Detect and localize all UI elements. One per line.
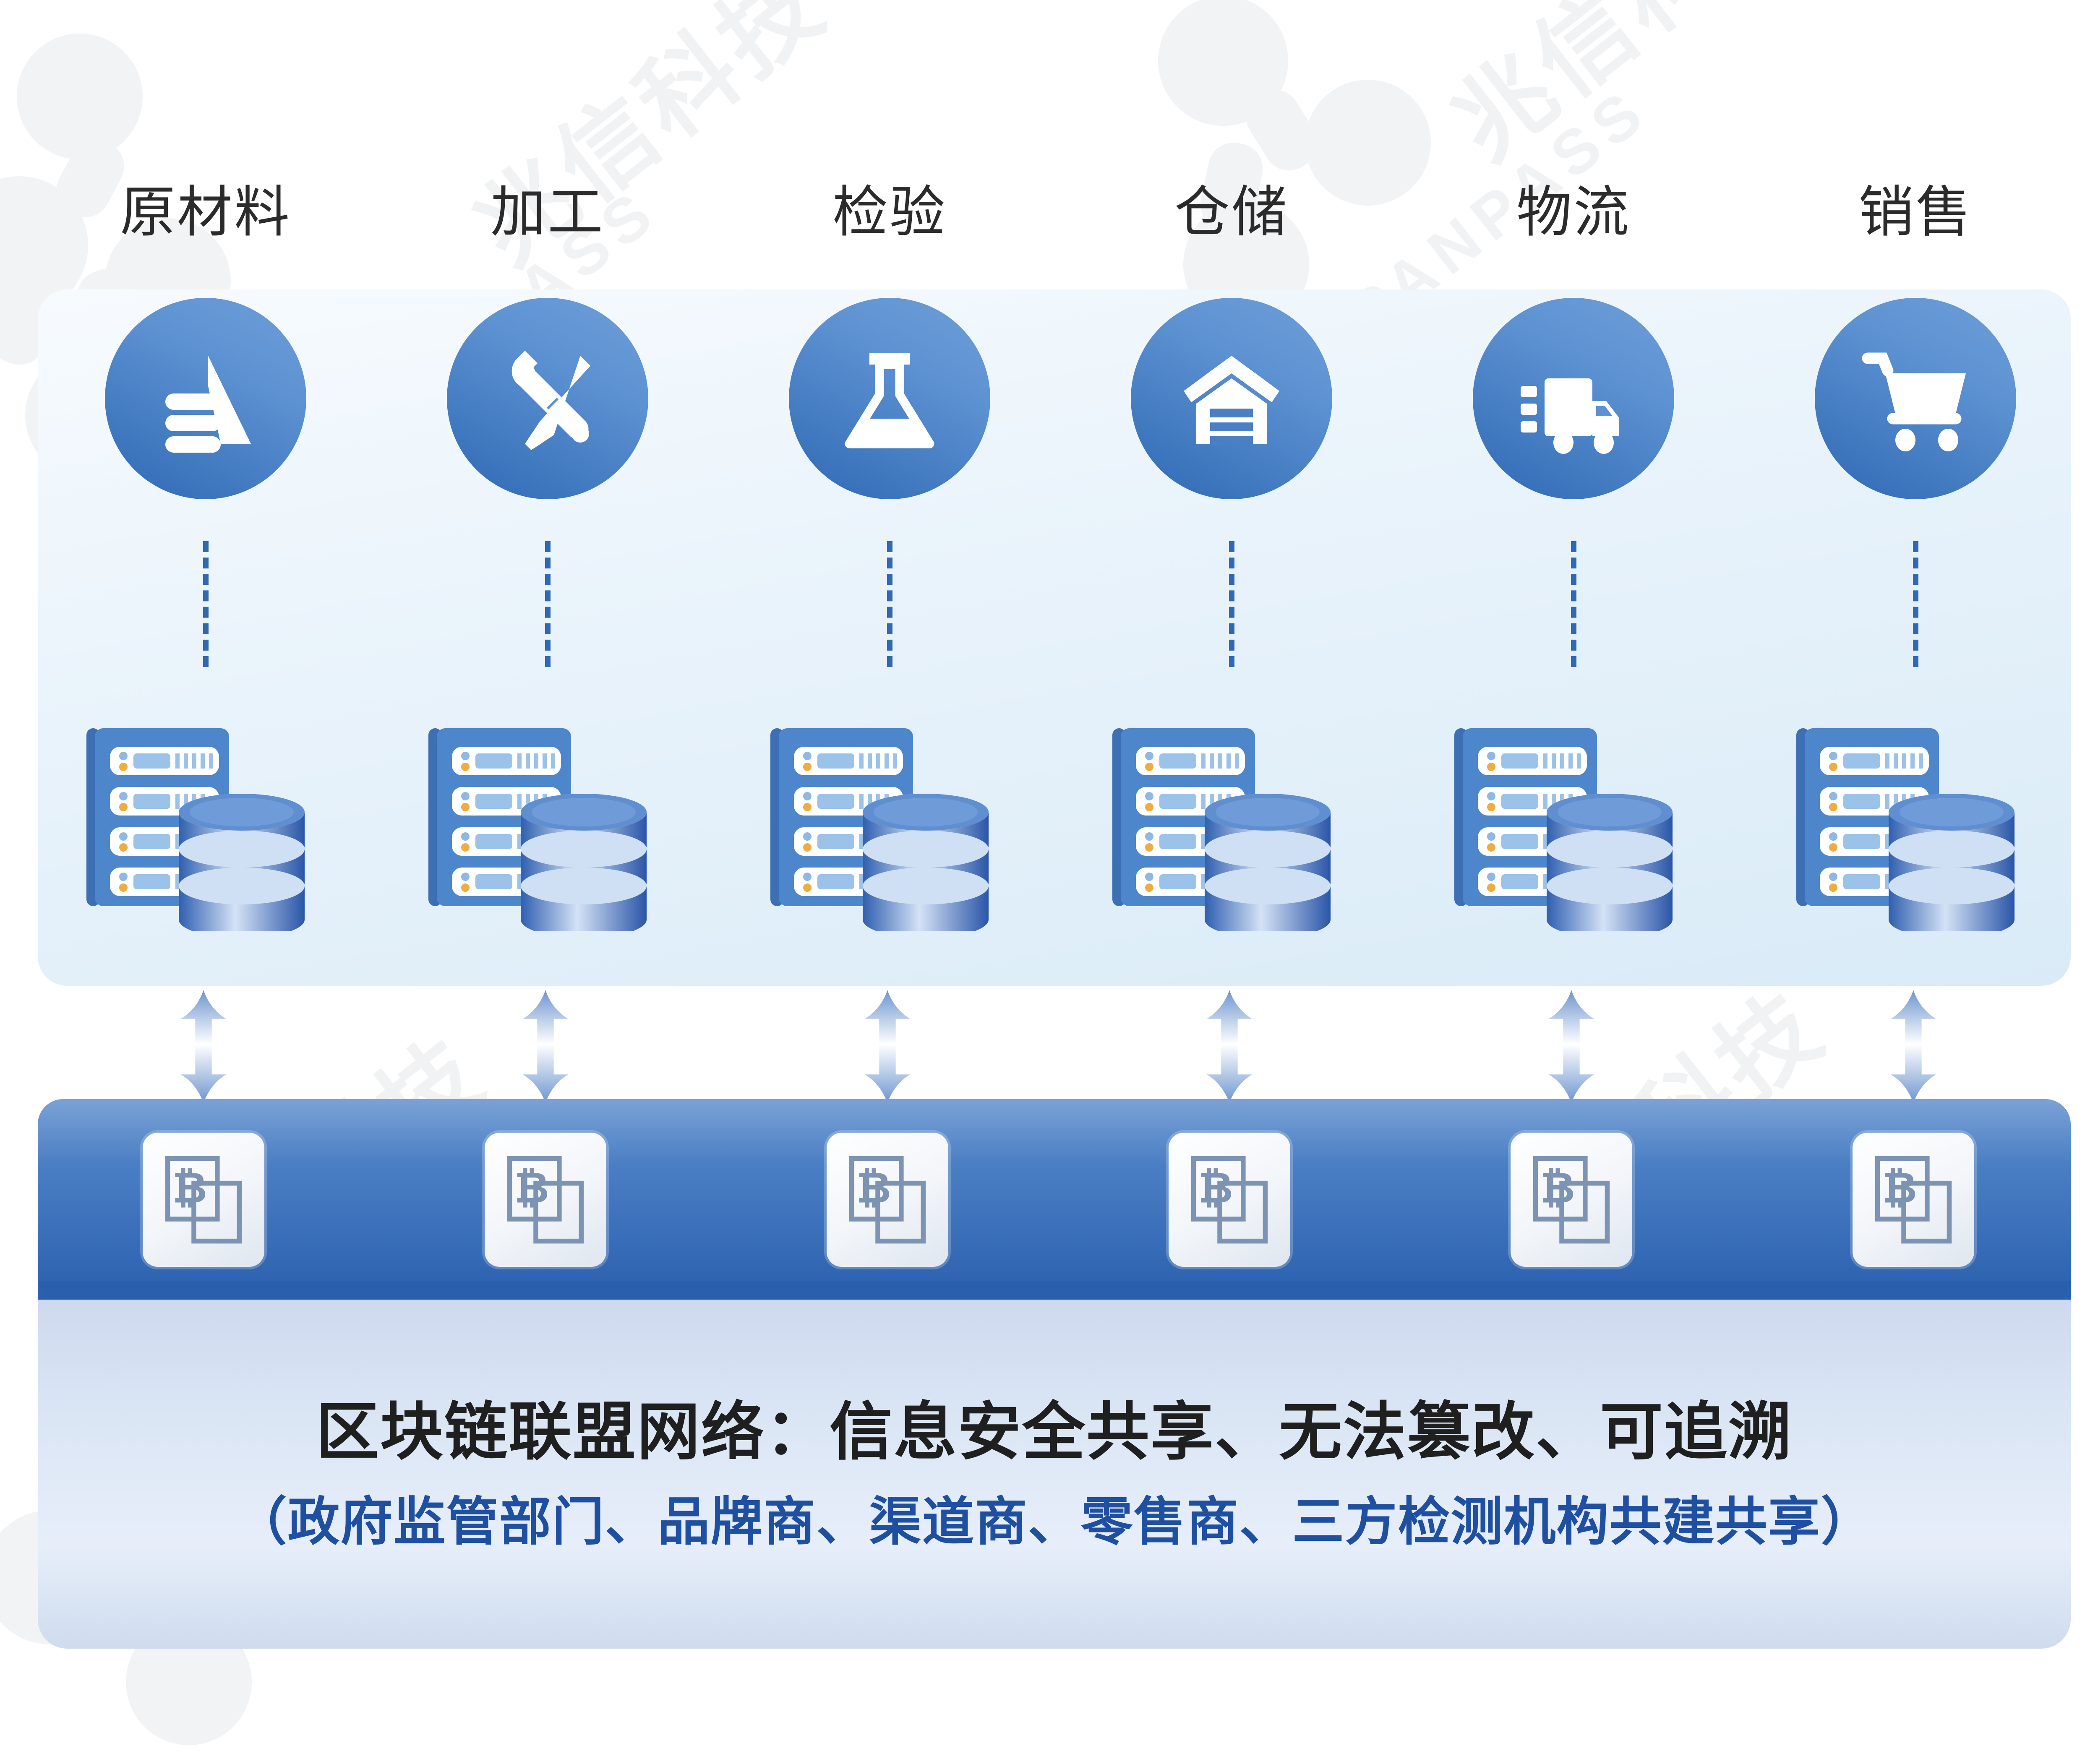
caption-panel: 区块链联盟网络：信息安全共享、无法篡改、可追溯 （政府监管部门、品牌商、渠道商、… (38, 1300, 2071, 1649)
sales-cart-icon (1853, 336, 1978, 461)
sync-arrow-2 (514, 990, 577, 1103)
server-database-group-1[interactable] (80, 722, 315, 931)
stage-label-raw-material: 原材料 (80, 185, 331, 240)
caption-sub-text: （政府监管部门、品牌商、渠道商、零售商、三方检测机构共建共享） (235, 1496, 1874, 1548)
stage-circle-sales[interactable] (1815, 298, 2016, 499)
blockchain-network-bar: ₿ ₿ ₿ ₿ (38, 1099, 2071, 1300)
stage-label-logistics: 物流 (1448, 185, 1699, 240)
dashed-connector-3 (887, 541, 892, 667)
server-database-group-3[interactable] (764, 722, 999, 931)
bitcoin-symbol: ₿ (514, 1164, 549, 1212)
dashed-connector-1 (203, 541, 209, 667)
sync-arrow-6 (1882, 990, 1945, 1103)
server-database-icon (1448, 722, 1683, 931)
stage-circle-warehousing[interactable] (1131, 298, 1332, 499)
blockchain-node-5[interactable]: ₿ (1511, 1133, 1632, 1267)
server-database-group-2[interactable] (422, 722, 657, 931)
blockchain-block-icon: ₿ (1187, 1152, 1271, 1248)
sync-arrow-3 (856, 990, 919, 1103)
server-database-icon (764, 722, 999, 931)
logistics-truck-icon (1511, 336, 1636, 461)
server-database-group-4[interactable] (1106, 722, 1341, 931)
sync-arrow-1 (172, 990, 235, 1103)
blockchain-block-icon: ₿ (1529, 1152, 1613, 1248)
blockchain-block-icon: ₿ (162, 1152, 245, 1248)
bitcoin-symbol: ₿ (1540, 1164, 1575, 1212)
stage-circle-processing[interactable] (447, 298, 648, 499)
server-database-icon (1106, 722, 1341, 931)
blockchain-block-icon: ₿ (1871, 1152, 1955, 1248)
sync-arrow-4 (1198, 990, 1261, 1103)
blockchain-node-2[interactable]: ₿ (485, 1133, 606, 1267)
stage-circle-raw-material[interactable] (105, 298, 306, 499)
dashed-connector-2 (545, 541, 551, 667)
bitcoin-symbol: ₿ (172, 1164, 207, 1212)
server-database-icon (1790, 722, 2025, 931)
sync-arrow-5 (1540, 990, 1603, 1103)
bitcoin-symbol: ₿ (1882, 1164, 1917, 1212)
processing-tools-icon (485, 336, 611, 461)
warehouse-icon (1169, 336, 1294, 461)
caption-main-text: 区块链联盟网络：信息安全共享、无法篡改、可追溯 (316, 1400, 1793, 1463)
blockchain-block-icon: ₿ (845, 1152, 929, 1248)
stage-label-warehousing: 仓储 (1106, 185, 1357, 240)
stage-label-processing: 加工 (422, 185, 673, 240)
server-database-icon (80, 722, 315, 931)
bitcoin-symbol: ₿ (856, 1164, 891, 1212)
diagram-canvas: 兆信科技 PANPASS 兆信科技 PANPASS 兆信科技 PANPASS 兆… (0, 0, 2098, 1764)
inspection-flask-icon (827, 336, 952, 461)
blockchain-node-1[interactable]: ₿ (143, 1133, 264, 1267)
blockchain-block-icon: ₿ (504, 1152, 587, 1248)
dashed-connector-4 (1229, 541, 1234, 667)
blockchain-node-4[interactable]: ₿ (1169, 1133, 1290, 1267)
stage-label-sales: 销售 (1790, 185, 2041, 240)
blockchain-node-3[interactable]: ₿ (827, 1133, 948, 1267)
dashed-connector-6 (1913, 541, 1918, 667)
stage-circle-inspection[interactable] (789, 298, 990, 499)
server-database-icon (422, 722, 657, 931)
supply-chain-panel (38, 289, 2071, 986)
raw-material-icon (143, 336, 269, 461)
server-database-group-5[interactable] (1448, 722, 1683, 931)
stage-label-inspection: 检验 (764, 185, 1015, 240)
dashed-connector-5 (1571, 541, 1576, 667)
bitcoin-symbol: ₿ (1198, 1164, 1233, 1212)
blockchain-node-6[interactable]: ₿ (1853, 1133, 1974, 1267)
stage-circle-logistics[interactable] (1473, 298, 1674, 499)
server-database-group-6[interactable] (1790, 722, 2025, 931)
